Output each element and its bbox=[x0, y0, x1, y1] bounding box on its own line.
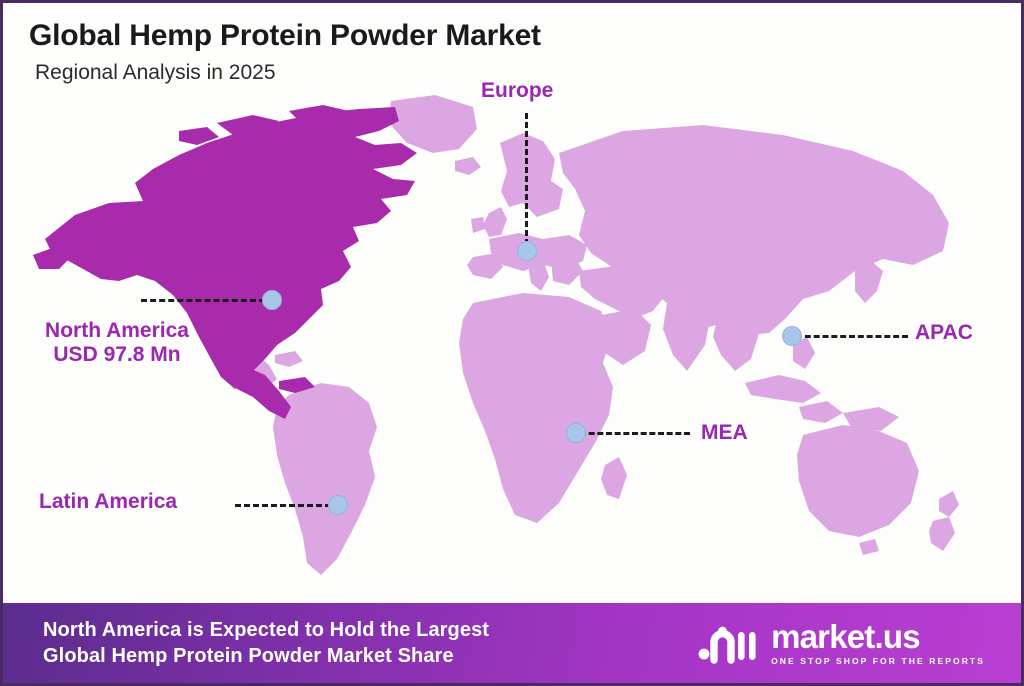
map-region-north-america[interactable] bbox=[33, 105, 417, 419]
page-title: Global Hemp Protein Powder Market bbox=[29, 19, 541, 53]
leader-line-europe bbox=[525, 113, 528, 245]
leader-line-north-america bbox=[141, 299, 265, 302]
header: Global Hemp Protein Powder Market Region… bbox=[29, 19, 541, 84]
region-name-north-america: North America bbox=[17, 319, 217, 343]
leader-line-mea bbox=[580, 432, 690, 435]
map-marker-north-america[interactable] bbox=[262, 290, 282, 310]
bottom-banner: North America is Expected to Hold the La… bbox=[3, 603, 1021, 683]
map-marker-apac[interactable] bbox=[782, 326, 802, 346]
region-label-apac: APAC bbox=[915, 321, 973, 345]
market-us-logo-mark-icon bbox=[697, 621, 759, 665]
logo-name: market.us bbox=[771, 620, 985, 653]
map-marker-mea[interactable] bbox=[566, 423, 586, 443]
region-label-mea: MEA bbox=[701, 421, 748, 445]
infographic-canvas: Global Hemp Protein Powder Market Region… bbox=[0, 0, 1024, 686]
banner-headline: North America is Expected to Hold the La… bbox=[43, 617, 489, 670]
region-name-apac: APAC bbox=[915, 321, 973, 345]
market-us-logo[interactable]: market.us ONE STOP SHOP FOR THE REPORTS bbox=[697, 620, 997, 666]
banner-line-2: Global Hemp Protein Powder Market Share bbox=[43, 643, 489, 669]
region-label-latin-america: Latin America bbox=[39, 490, 177, 514]
market-us-logo-text: market.us ONE STOP SHOP FOR THE REPORTS bbox=[771, 620, 985, 666]
banner-line-1: North America is Expected to Hold the La… bbox=[43, 617, 489, 643]
map-marker-latin-america[interactable] bbox=[328, 495, 348, 515]
region-value-north-america: USD 97.8 Mn bbox=[17, 343, 217, 367]
page-subtitle: Regional Analysis in 2025 bbox=[35, 61, 541, 84]
logo-tagline: ONE STOP SHOP FOR THE REPORTS bbox=[771, 657, 985, 666]
region-name-latin-america: Latin America bbox=[39, 490, 177, 514]
leader-line-apac bbox=[796, 335, 908, 338]
region-name-mea: MEA bbox=[701, 421, 748, 445]
map-marker-europe[interactable] bbox=[517, 241, 537, 261]
leader-line-latin-america bbox=[235, 504, 331, 507]
region-label-north-america: North America USD 97.8 Mn bbox=[17, 319, 217, 368]
